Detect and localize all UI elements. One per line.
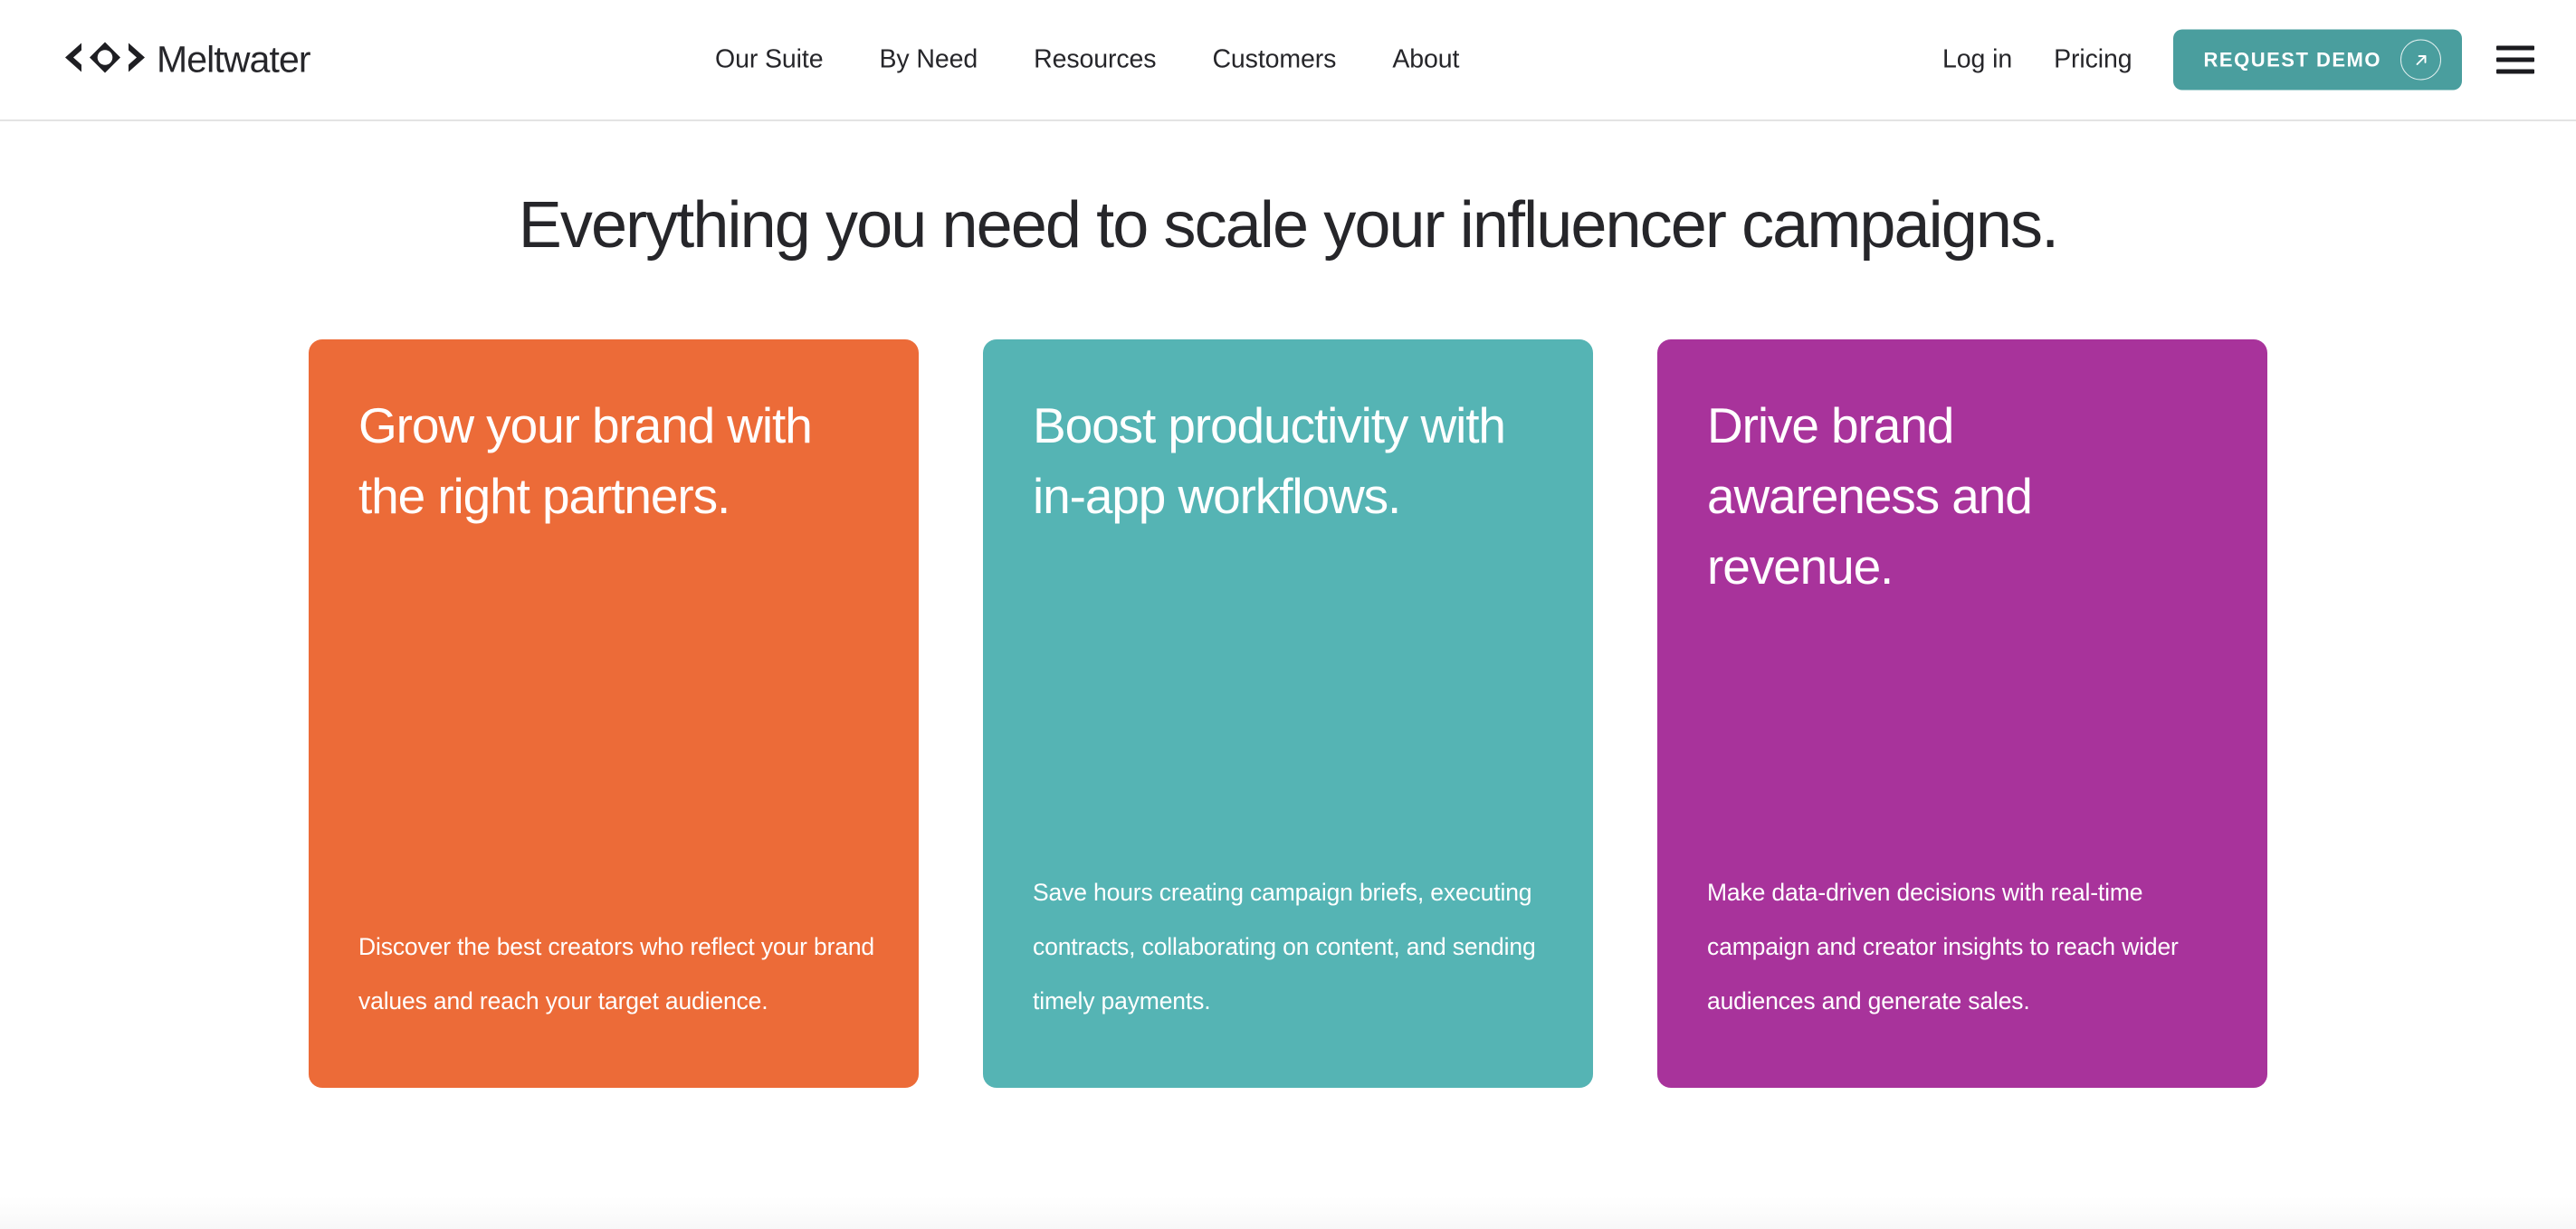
hamburger-bar-3: [2496, 70, 2534, 74]
feature-card-title: Boost productivity with in-app workflows…: [1033, 390, 1522, 531]
arrow-up-right-icon: [2400, 40, 2441, 81]
feature-card-body: Discover the best creators who reflect y…: [358, 920, 875, 1028]
feature-card-body: Make data-driven decisions with real-tim…: [1707, 866, 2224, 1028]
site-header: Meltwater Our Suite By Need Resources Cu…: [0, 0, 2576, 121]
feature-card-boost-productivity[interactable]: Boost productivity with in-app workflows…: [983, 339, 1593, 1088]
hamburger-bar-2: [2496, 58, 2534, 62]
feature-card-drive-brand-awareness[interactable]: Drive brand awareness and revenue. Make …: [1657, 339, 2267, 1088]
primary-navigation: Our Suite By Need Resources Customers Ab…: [715, 36, 1487, 84]
feature-card-title: Drive brand awareness and revenue.: [1707, 390, 2197, 602]
nav-item-customers[interactable]: Customers: [1184, 36, 1364, 84]
meltwater-logo-link[interactable]: Meltwater: [62, 41, 310, 80]
login-link[interactable]: Log in: [1922, 36, 2033, 84]
section-bottom-fade: [0, 1196, 2576, 1229]
logo-wordmark: Meltwater: [157, 42, 310, 79]
hamburger-menu-icon[interactable]: [2496, 46, 2534, 74]
hamburger-bar-1: [2496, 46, 2534, 51]
nav-item-about[interactable]: About: [1364, 36, 1487, 84]
pricing-link[interactable]: Pricing: [2033, 36, 2152, 84]
feature-cards-row: Grow your brand with the right partners.…: [309, 339, 2267, 1088]
page-title: Everything you need to scale your influe…: [0, 190, 2576, 262]
request-demo-button[interactable]: REQUEST DEMO: [2173, 30, 2462, 91]
feature-card-body: Save hours creating campaign briefs, exe…: [1033, 866, 1550, 1028]
nav-item-our-suite[interactable]: Our Suite: [715, 36, 852, 84]
nav-item-by-need[interactable]: By Need: [852, 36, 1007, 84]
main-content: Everything you need to scale your influe…: [0, 190, 2576, 1088]
nav-item-resources[interactable]: Resources: [1006, 36, 1184, 84]
header-actions: Log in Pricing REQUEST DEMO: [1922, 30, 2534, 91]
feature-card-grow-your-brand[interactable]: Grow your brand with the right partners.…: [309, 339, 919, 1088]
request-demo-label: REQUEST DEMO: [2204, 50, 2381, 70]
feature-card-title: Grow your brand with the right partners.: [358, 390, 848, 531]
meltwater-eye-logo-icon: [62, 41, 148, 80]
